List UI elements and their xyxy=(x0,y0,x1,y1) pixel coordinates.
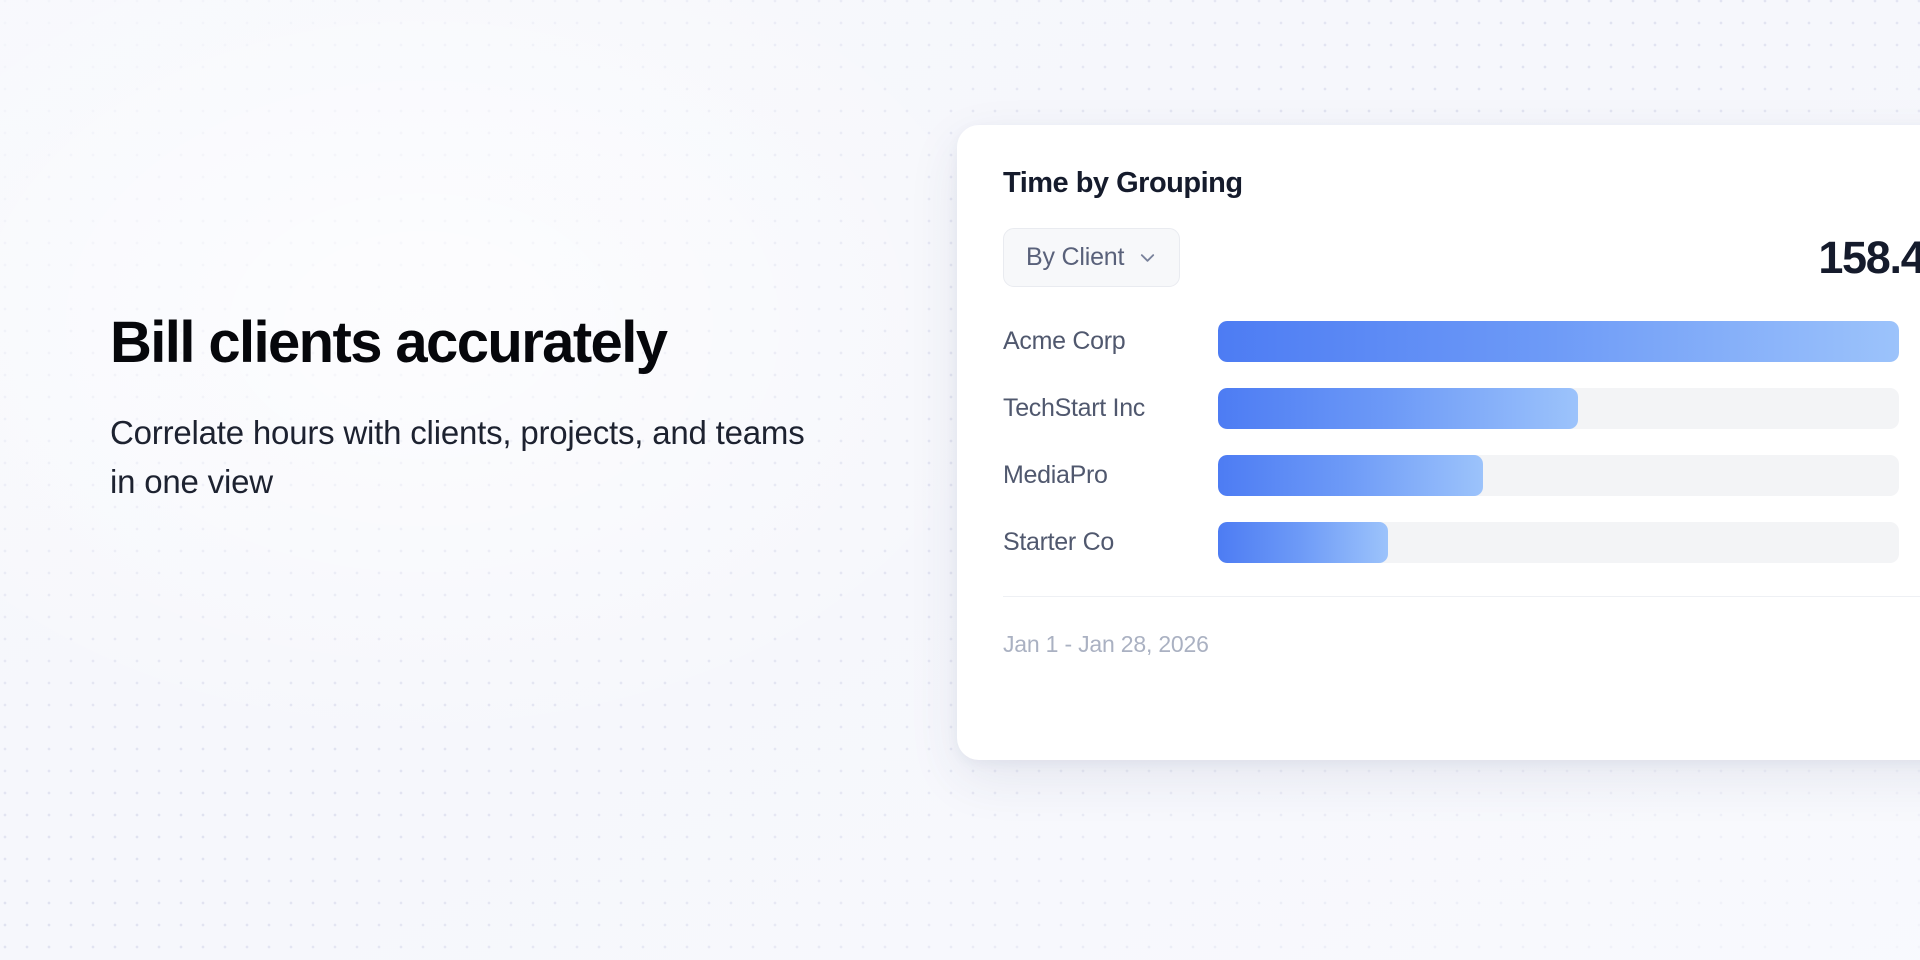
bar-fill xyxy=(1218,522,1388,563)
card-title: Time by Grouping xyxy=(1003,167,1920,200)
bar-fill xyxy=(1218,388,1578,429)
hero-section: Bill clients accurately Correlate hours … xyxy=(110,312,890,506)
grouping-dropdown[interactable]: By Client xyxy=(1003,228,1180,287)
bar-track xyxy=(1218,522,1899,563)
bar-row-value: 18 xyxy=(1899,527,1920,558)
page-title: Bill clients accurately xyxy=(110,312,890,373)
bar-row: MediaPro28 xyxy=(1003,451,1920,499)
bar-track xyxy=(1218,455,1899,496)
card-controls-row: By Client 158.4h total xyxy=(1003,228,1920,287)
bar-row-value: 72 xyxy=(1899,326,1920,357)
bar-track xyxy=(1218,321,1899,362)
bar-row-label: Acme Corp xyxy=(1003,327,1218,356)
bar-fill xyxy=(1218,321,1899,362)
bar-row-label: Starter Co xyxy=(1003,528,1218,557)
time-by-grouping-card: Time by Grouping By Client 158.4h total … xyxy=(957,125,1920,760)
total-hours-value: 158.4h xyxy=(1818,232,1920,284)
bar-row: Starter Co18 xyxy=(1003,518,1920,566)
card-footer: Jan 1 - Jan 28, 2026 xyxy=(1003,596,1920,658)
bar-track xyxy=(1218,388,1899,429)
grouping-dropdown-label: By Client xyxy=(1026,243,1124,272)
bar-row-label: TechStart Inc xyxy=(1003,394,1218,423)
bar-row-value: 38 xyxy=(1899,393,1920,424)
bar-row-value: 28 xyxy=(1899,460,1920,491)
chevron-down-icon xyxy=(1138,248,1157,267)
total-summary: 158.4h total xyxy=(1818,232,1920,284)
bar-row: TechStart Inc38 xyxy=(1003,384,1920,432)
bar-fill xyxy=(1218,455,1483,496)
bar-chart-list: Acme Corp72TechStart Inc38MediaPro28Star… xyxy=(1003,317,1920,566)
hero-subtitle: Correlate hours with clients, projects, … xyxy=(110,409,830,505)
bar-row-label: MediaPro xyxy=(1003,461,1218,490)
date-range-label: Jan 1 - Jan 28, 2026 xyxy=(1003,631,1209,657)
bar-row: Acme Corp72 xyxy=(1003,317,1920,365)
